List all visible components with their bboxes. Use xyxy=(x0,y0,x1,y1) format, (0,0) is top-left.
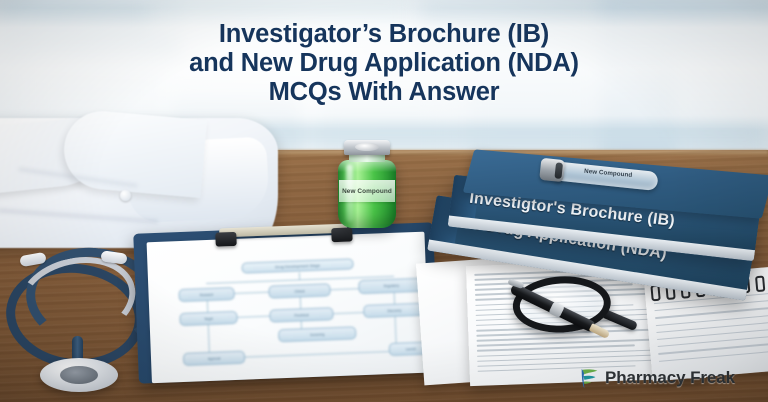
diagram-node: Clinical xyxy=(268,283,330,298)
poster-image: Investigator’s Brochure (IB) and New Dru… xyxy=(0,0,768,402)
diagram-connector xyxy=(245,351,389,358)
diagram-connector xyxy=(299,272,301,280)
diagram-connector xyxy=(394,293,396,304)
diagram-connector xyxy=(333,312,363,315)
diagram-connector xyxy=(207,301,209,312)
clipboard-paper: Drug Development Stage Research Clinical… xyxy=(147,232,430,384)
stethoscope-chestpiece xyxy=(40,358,118,392)
diagram-connector xyxy=(331,288,359,290)
diagram-node: Discovery xyxy=(363,303,425,318)
diagram-node: Target xyxy=(179,311,237,326)
clipboard-clip xyxy=(215,232,237,247)
lab-coat-button xyxy=(120,190,131,201)
leaf-icon xyxy=(578,366,600,390)
brand-logo[interactable]: Pharmacy Freak xyxy=(578,366,735,390)
bottle-label: New Compound xyxy=(339,180,395,202)
page-title-line-1: Investigator’s Brochure (IB) xyxy=(0,20,768,49)
notebook-lines xyxy=(654,293,768,368)
diagram-connector xyxy=(235,292,269,295)
pen-tip xyxy=(589,323,610,339)
diagram-node: Preclinical xyxy=(269,307,333,322)
clipboard: Drug Development Stage Research Clinical… xyxy=(133,222,439,383)
diagram-connector xyxy=(300,297,302,308)
diagram-connector xyxy=(237,316,269,319)
page-title-line-3: MCQs With Answer xyxy=(0,78,768,107)
page-title-line-2: and New Drug Application (NDA) xyxy=(0,49,768,78)
diagram-node: Research xyxy=(178,287,234,302)
diagram-node: Approval xyxy=(183,351,245,366)
page-title: Investigator’s Brochure (IB) and New Dru… xyxy=(0,20,768,107)
bottle-cap xyxy=(344,140,390,155)
diagram-connector xyxy=(208,325,210,352)
test-tube-stopper xyxy=(539,158,565,182)
diagram-node: Screening xyxy=(278,326,356,342)
drug-development-flow-diagram: Drug Development Stage Research Clinical… xyxy=(171,255,433,377)
diagram-node: Regulatory xyxy=(358,278,424,295)
diagram-connector xyxy=(395,317,397,343)
diagram-title: Drug Development Stage xyxy=(241,258,353,273)
compound-bottle: New Compound xyxy=(336,140,398,232)
brand-name: Pharmacy Freak xyxy=(605,368,735,388)
